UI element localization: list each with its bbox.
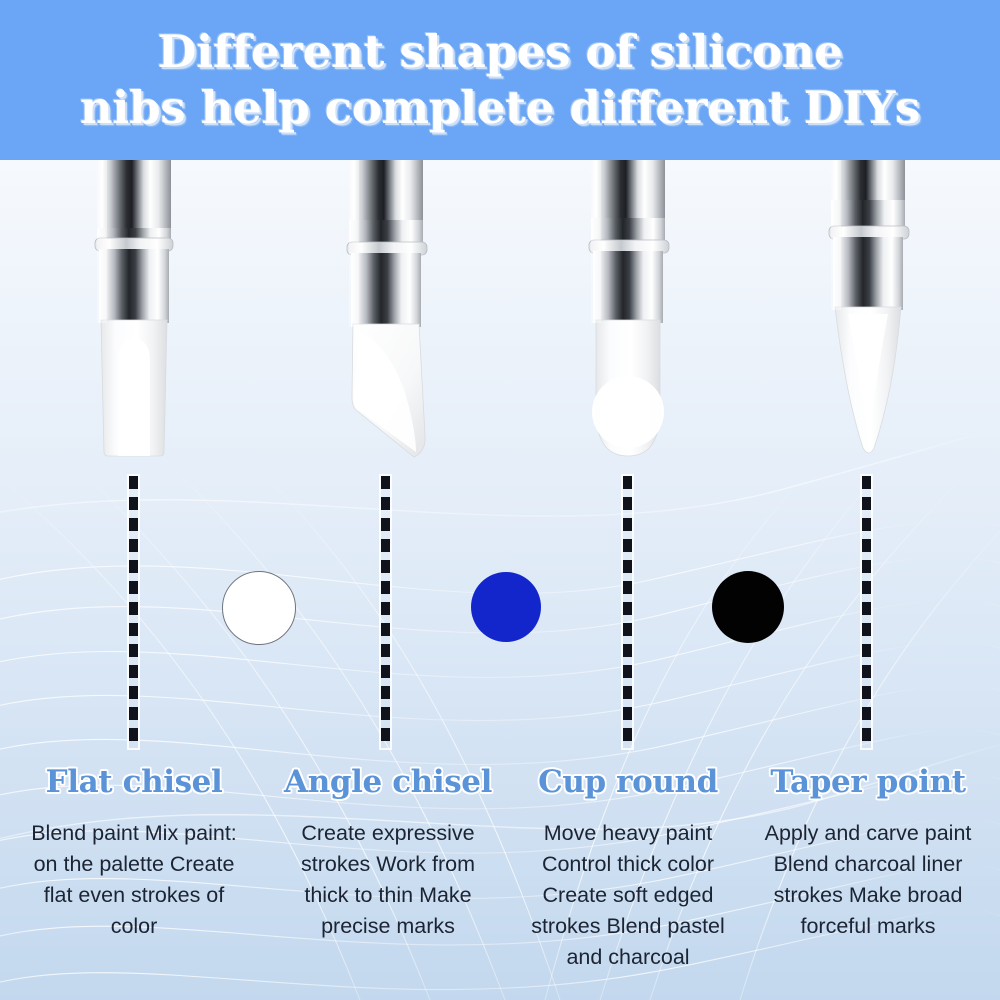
pen-flat-chisel — [78, 160, 190, 462]
column-title-cup-round: Cup round — [508, 764, 748, 800]
divider-dashed-4 — [862, 476, 871, 748]
column-taper-point: Taper point Apply and carve paint Blend … — [748, 764, 988, 942]
column-title-taper-point: Taper point — [748, 764, 988, 800]
flat-chisel-nib-icon — [78, 160, 190, 462]
header-title-line-2: nibs help complete different DIYs — [80, 80, 920, 136]
divider-dashed-3 — [623, 476, 632, 748]
column-title-angle-chisel: Angle chisel — [268, 764, 508, 800]
column-flat-chisel: Flat chisel Blend paint Mix paint: on th… — [14, 764, 254, 942]
column-body-flat-chisel: Blend paint Mix paint: on the palette Cr… — [14, 818, 254, 942]
column-body-cup-round: Move heavy paint Control thick color Cre… — [508, 818, 748, 973]
infographic-page: Different shapes of silicone nibs help c… — [0, 0, 1000, 1000]
pen-angle-chisel — [330, 160, 442, 462]
header-title-line-1: Different shapes of silicone — [157, 24, 842, 80]
cup-round-nib-icon — [572, 160, 684, 462]
angle-chisel-nib-icon — [330, 160, 442, 462]
column-angle-chisel: Angle chisel Create expressive strokes W… — [268, 764, 508, 942]
black-paint-dot — [712, 571, 784, 643]
white-paint-dot — [222, 571, 296, 645]
column-body-taper-point: Apply and carve paint Blend charcoal lin… — [748, 818, 988, 942]
divider-dashed-2 — [381, 476, 390, 748]
pen-cup-round — [572, 160, 684, 462]
column-title-flat-chisel: Flat chisel — [14, 764, 254, 800]
divider-dashed-1 — [129, 476, 138, 748]
header-banner: Different shapes of silicone nibs help c… — [0, 0, 1000, 160]
column-cup-round: Cup round Move heavy paint Control thick… — [508, 764, 748, 973]
pen-taper-point — [812, 160, 924, 462]
blue-paint-dot — [471, 572, 541, 642]
column-body-angle-chisel: Create expressive strokes Work from thic… — [268, 818, 508, 942]
taper-point-nib-icon — [812, 160, 924, 462]
